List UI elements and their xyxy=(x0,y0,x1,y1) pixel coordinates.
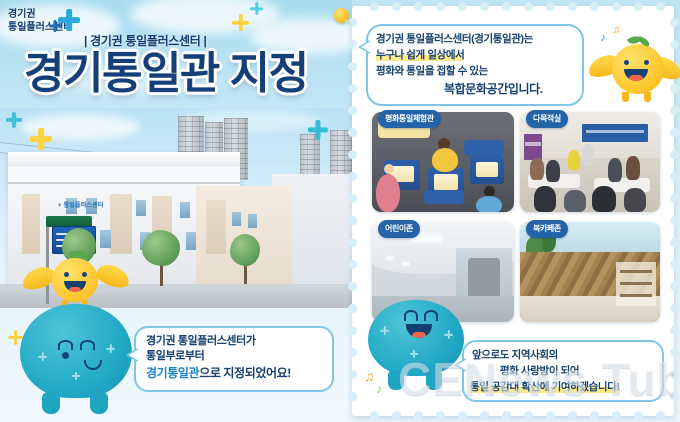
figure-body xyxy=(432,148,458,172)
mascot-leg xyxy=(90,392,108,414)
sparkle-plus-icon xyxy=(106,344,115,353)
mascot-eye xyxy=(424,310,438,321)
mascot-body xyxy=(52,258,98,302)
sparkle-plus-icon xyxy=(72,372,80,380)
mascot-leg xyxy=(42,392,60,414)
sparkle-plus-icon xyxy=(308,120,328,140)
ceiling-light xyxy=(402,262,410,266)
window xyxy=(248,214,257,228)
attendee xyxy=(564,190,586,212)
speech-bubble xyxy=(464,140,504,156)
music-note-icon: ♪ xyxy=(600,30,606,44)
attendee xyxy=(592,186,616,212)
sparkle-plus-icon xyxy=(410,350,418,358)
mascot-eye xyxy=(644,60,649,65)
right-bubble-line1: 앞으로도 지역사회의 xyxy=(472,347,558,362)
window xyxy=(232,212,241,226)
photo-label-0: 평화통일체험관 xyxy=(378,110,441,128)
mascot-tongue xyxy=(69,287,81,292)
mascot-leg xyxy=(622,92,629,102)
intro-line3: 평화와 통일을 접할 수 있는 xyxy=(376,63,488,78)
page-title: 경기통일관 지정 xyxy=(24,48,308,100)
sparkle-plus-icon xyxy=(6,112,22,128)
tree xyxy=(230,234,260,266)
photo-label-3: 북카페존 xyxy=(526,220,568,238)
figure-body xyxy=(376,174,400,212)
sparkle-plus-icon xyxy=(444,330,453,339)
right-bubble-line3: 통일 공감대 확산에 기여하겠습니다! xyxy=(470,379,620,394)
left-bubble-line2: 통일부로부터 xyxy=(146,349,204,364)
road xyxy=(0,294,352,308)
mascot-eye xyxy=(82,272,87,277)
mascot-leg xyxy=(426,370,442,390)
plus-cross-small-icon xyxy=(49,20,61,32)
presenter xyxy=(582,144,594,166)
display-panel xyxy=(468,258,500,300)
attendee xyxy=(534,186,556,212)
mascot-tongue xyxy=(412,332,427,338)
intro-line4: 복합문화공간입니다. xyxy=(444,80,543,97)
facade-panel xyxy=(206,200,226,254)
mascot-eye xyxy=(404,310,418,321)
music-note-icon: ♪ xyxy=(376,382,382,396)
infographic-poster: + 통일플러스센터 경기권통일플러스센터 | xyxy=(0,0,680,422)
left-panel: + 통일플러스센터 경기권통일플러스센터 | xyxy=(0,0,352,422)
building-band xyxy=(8,182,240,184)
shelf-board xyxy=(620,270,652,273)
sparkle-plus-icon xyxy=(232,14,249,31)
speech-bubble xyxy=(424,190,464,204)
mascot-eye xyxy=(58,340,73,350)
sparkle-plus-icon xyxy=(30,128,52,150)
room-poster xyxy=(524,134,542,160)
attendee xyxy=(626,156,640,180)
window xyxy=(100,230,111,248)
attendee xyxy=(568,150,580,170)
building-logo: + 통일플러스센터 xyxy=(58,200,104,209)
mascot-eye xyxy=(80,340,95,350)
left-bubble-line3: 경기통일관으로 지정되었어요! xyxy=(146,365,291,381)
bubble-tail-inner xyxy=(457,359,467,371)
left-bubble-line1: 경기권 통일플러스센터가 xyxy=(146,334,256,349)
attendee xyxy=(530,158,544,180)
sign-post xyxy=(46,226,49,304)
tree xyxy=(142,230,180,266)
center-logo: 경기권통일플러스센터 xyxy=(6,4,90,42)
mascot-body xyxy=(20,304,132,398)
mascot-eye xyxy=(64,272,69,277)
room-banner xyxy=(582,124,648,142)
subtitle: | 경기권 통일플러스센터 | xyxy=(84,32,207,49)
photo-label-2: 어린이존 xyxy=(378,220,420,238)
window xyxy=(136,200,146,216)
shelf-board xyxy=(620,282,652,285)
intro-line2: 누구나 쉽게 일상에서 xyxy=(376,47,464,62)
attendee xyxy=(608,158,622,182)
figure-body xyxy=(476,196,502,212)
right-bubble-line2: 평화 사랑방이 되어 xyxy=(500,363,579,378)
figure-head xyxy=(384,164,394,174)
facade-panel xyxy=(110,194,132,254)
bubble-tail-inner xyxy=(361,41,371,53)
intro-line1: 경기권 통일플러스센터(경기통일관)는 xyxy=(376,31,533,46)
left-bubble-rest: 으로 지정되었어요! xyxy=(199,366,291,380)
bubble-tail-inner xyxy=(129,349,139,361)
mascot-eye xyxy=(624,60,629,65)
photo-label-1: 다목적실 xyxy=(526,110,568,128)
attendee xyxy=(624,188,646,212)
sparkle-plus-icon xyxy=(38,352,47,361)
mascot-leg xyxy=(388,370,404,390)
left-bubble-accent: 경기통일관 xyxy=(146,366,199,380)
shelf-board xyxy=(620,294,652,297)
window xyxy=(180,202,190,218)
music-note-icon: ♫ xyxy=(364,368,375,384)
building-roofline xyxy=(8,152,240,167)
pushpin-icon xyxy=(334,8,351,25)
plus-cross-icon xyxy=(58,9,80,31)
exhibit-kiosk xyxy=(470,156,504,184)
ceiling-light xyxy=(412,236,442,242)
ceiling-light xyxy=(386,256,394,260)
mascot-leg xyxy=(644,92,651,102)
mascot-tongue xyxy=(629,75,642,81)
mascot-nose xyxy=(62,352,69,359)
window xyxy=(186,232,196,250)
attendee xyxy=(546,160,560,182)
music-note-icon: ♫ xyxy=(612,24,620,36)
facade-panel xyxy=(22,194,40,254)
sparkle-plus-icon xyxy=(250,2,263,15)
sparkle-plus-icon xyxy=(380,326,389,335)
